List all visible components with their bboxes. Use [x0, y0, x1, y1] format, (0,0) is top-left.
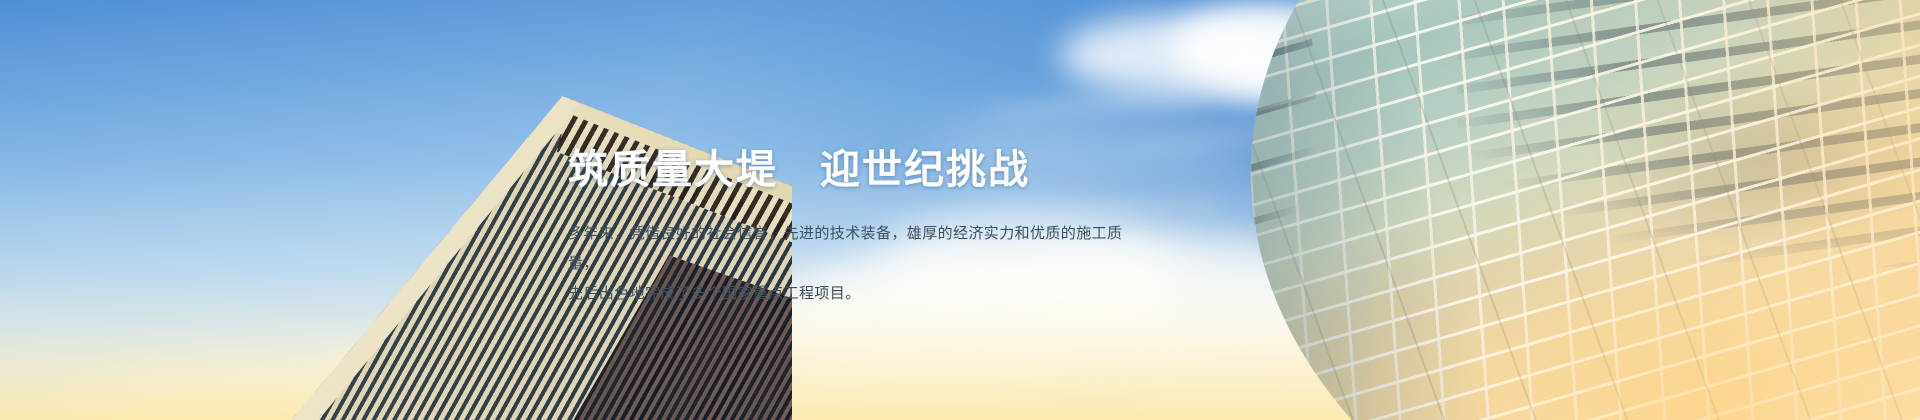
banner-subtext-line-1: 多年来，凭借良好的社会信誉，先进的技术装备，雄厚的经济实力和优质的施工质量， — [568, 219, 1128, 279]
banner-subtext: 多年来，凭借良好的社会信誉，先进的技术装备，雄厚的经济实力和优质的施工质量， 先… — [568, 219, 1128, 309]
banner-subtext-line-2: 先后出色地完成了多个国家重点工程项目。 — [568, 279, 1128, 309]
banner-copy-block: 筑质量大堤 迎世纪挑战 多年来，凭借良好的社会信誉，先进的技术装备，雄厚的经济实… — [568, 148, 1128, 309]
hero-banner: 筑质量大堤 迎世纪挑战 多年来，凭借良好的社会信誉，先进的技术装备，雄厚的经济实… — [0, 0, 1920, 420]
banner-headline: 筑质量大堤 迎世纪挑战 — [568, 148, 1128, 193]
sunlight-glow — [1406, 239, 1920, 420]
